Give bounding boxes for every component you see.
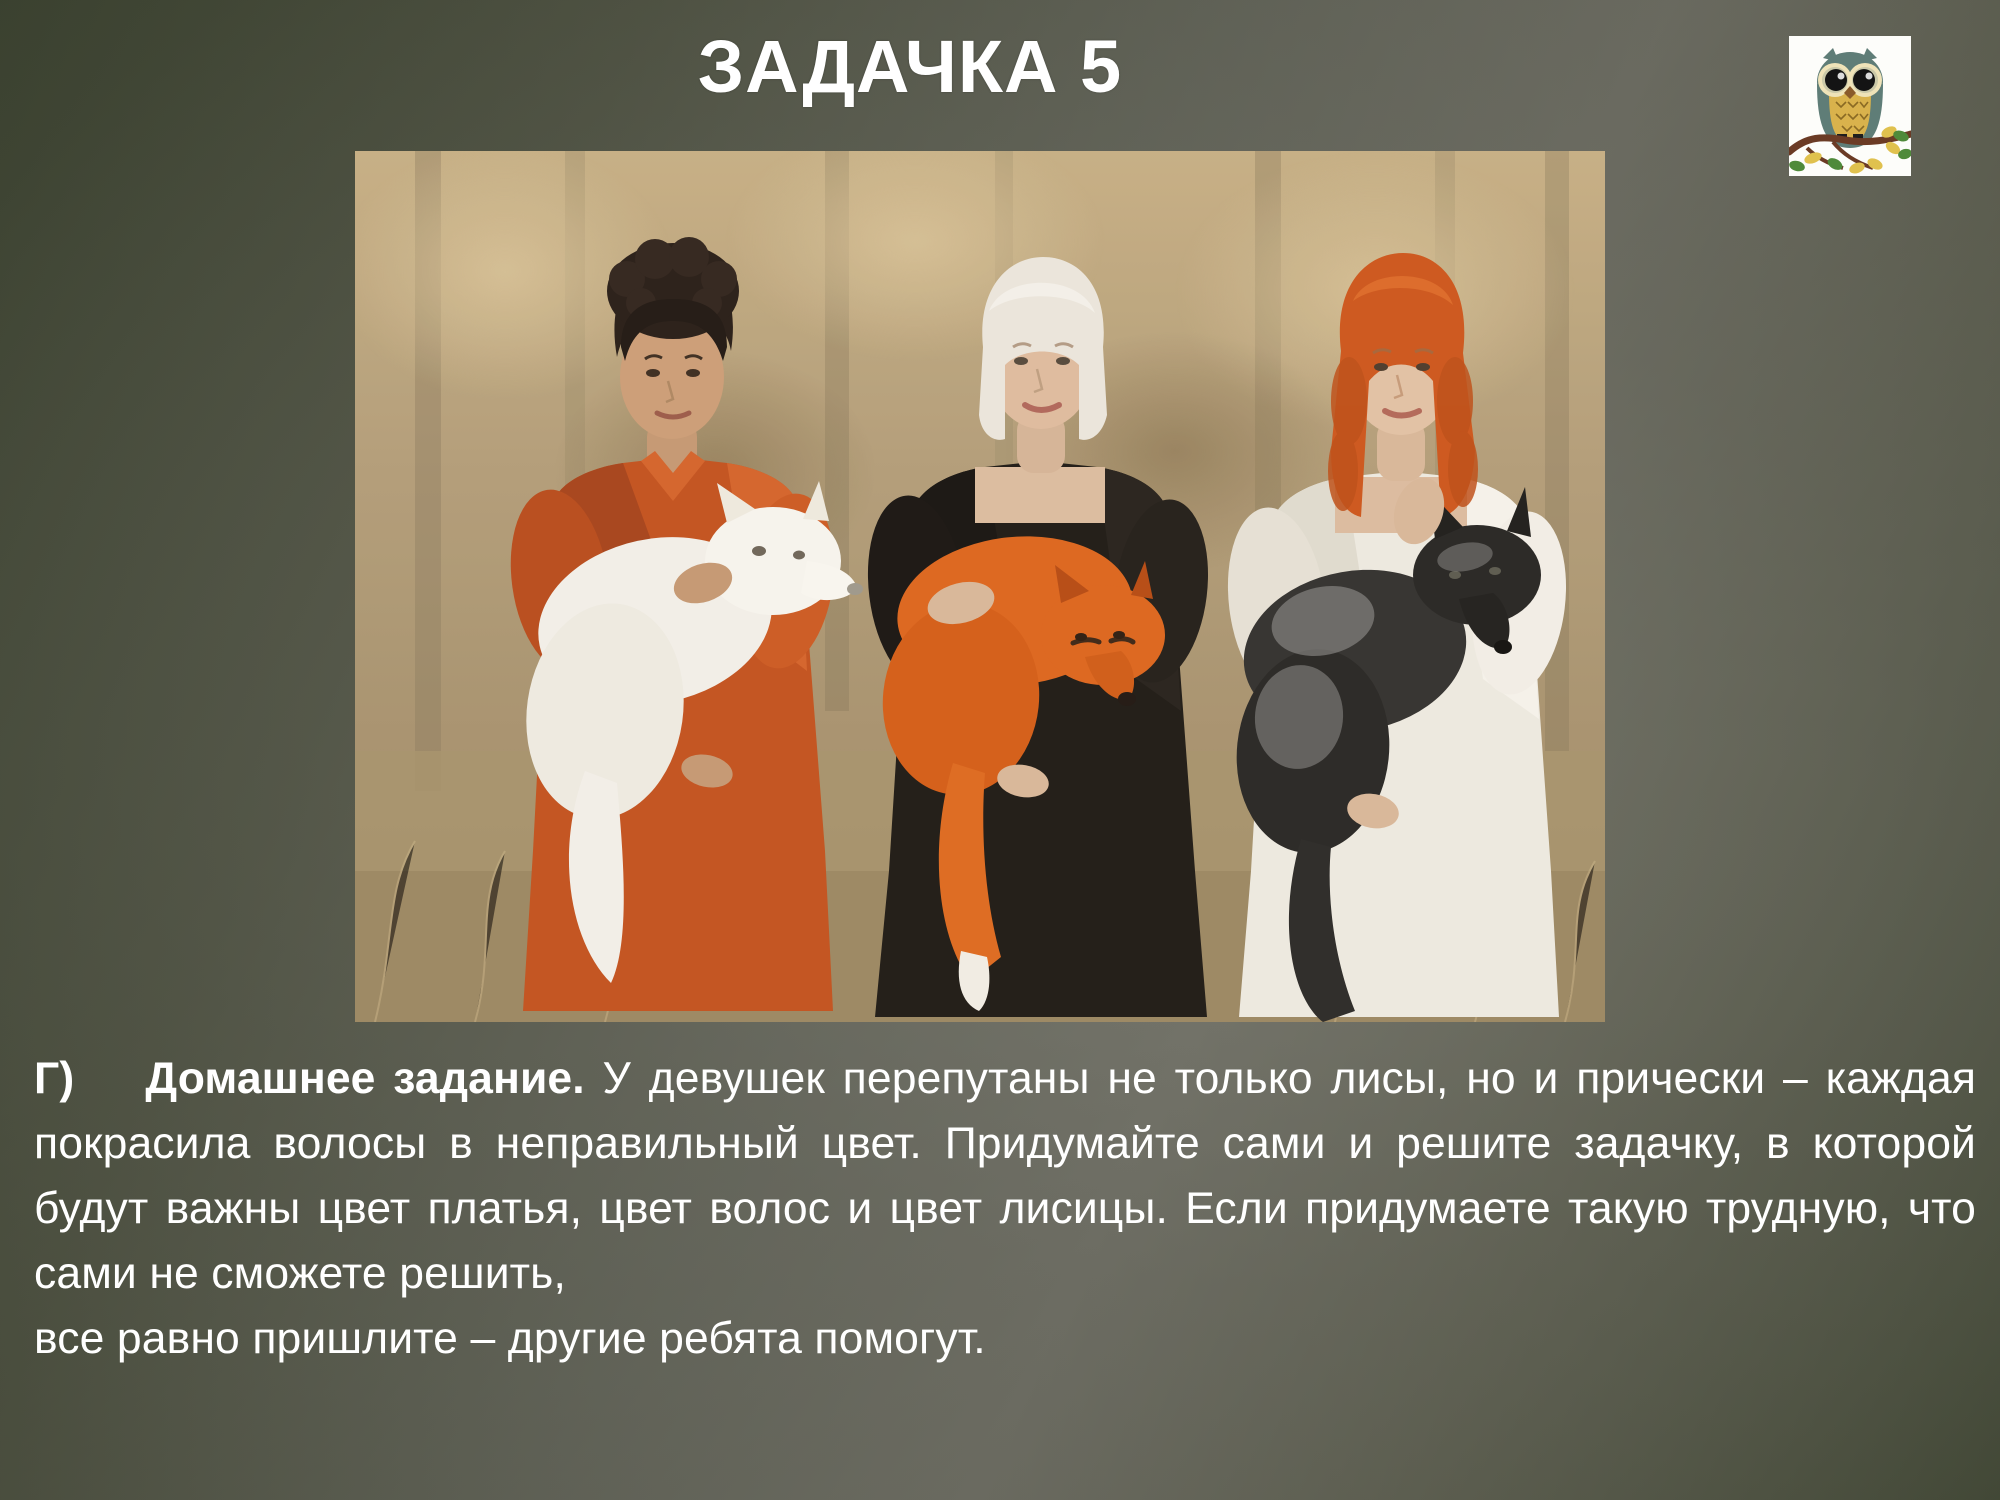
task-heading: Домашнее задание.: [145, 1054, 584, 1103]
photo-three-women-with-foxes: [355, 151, 1605, 1022]
task-label: Г): [34, 1054, 74, 1103]
owl-icon: [1789, 36, 1911, 176]
task-line-1: У девушек перепутаны не только лисы, но …: [603, 1054, 1559, 1103]
task-paragraph: Г) Домашнее задание. У девушек перепутан…: [34, 1046, 1976, 1371]
page-title: ЗАДАЧКА 5: [0, 28, 1820, 106]
slide-canvas: ЗАДАЧКА 5: [0, 0, 2000, 1500]
task-line-5: все равно пришлите – другие ребята помог…: [34, 1306, 1976, 1371]
photo-illustration: [355, 151, 1605, 1022]
owl-on-branch-logo: [1789, 36, 1911, 176]
